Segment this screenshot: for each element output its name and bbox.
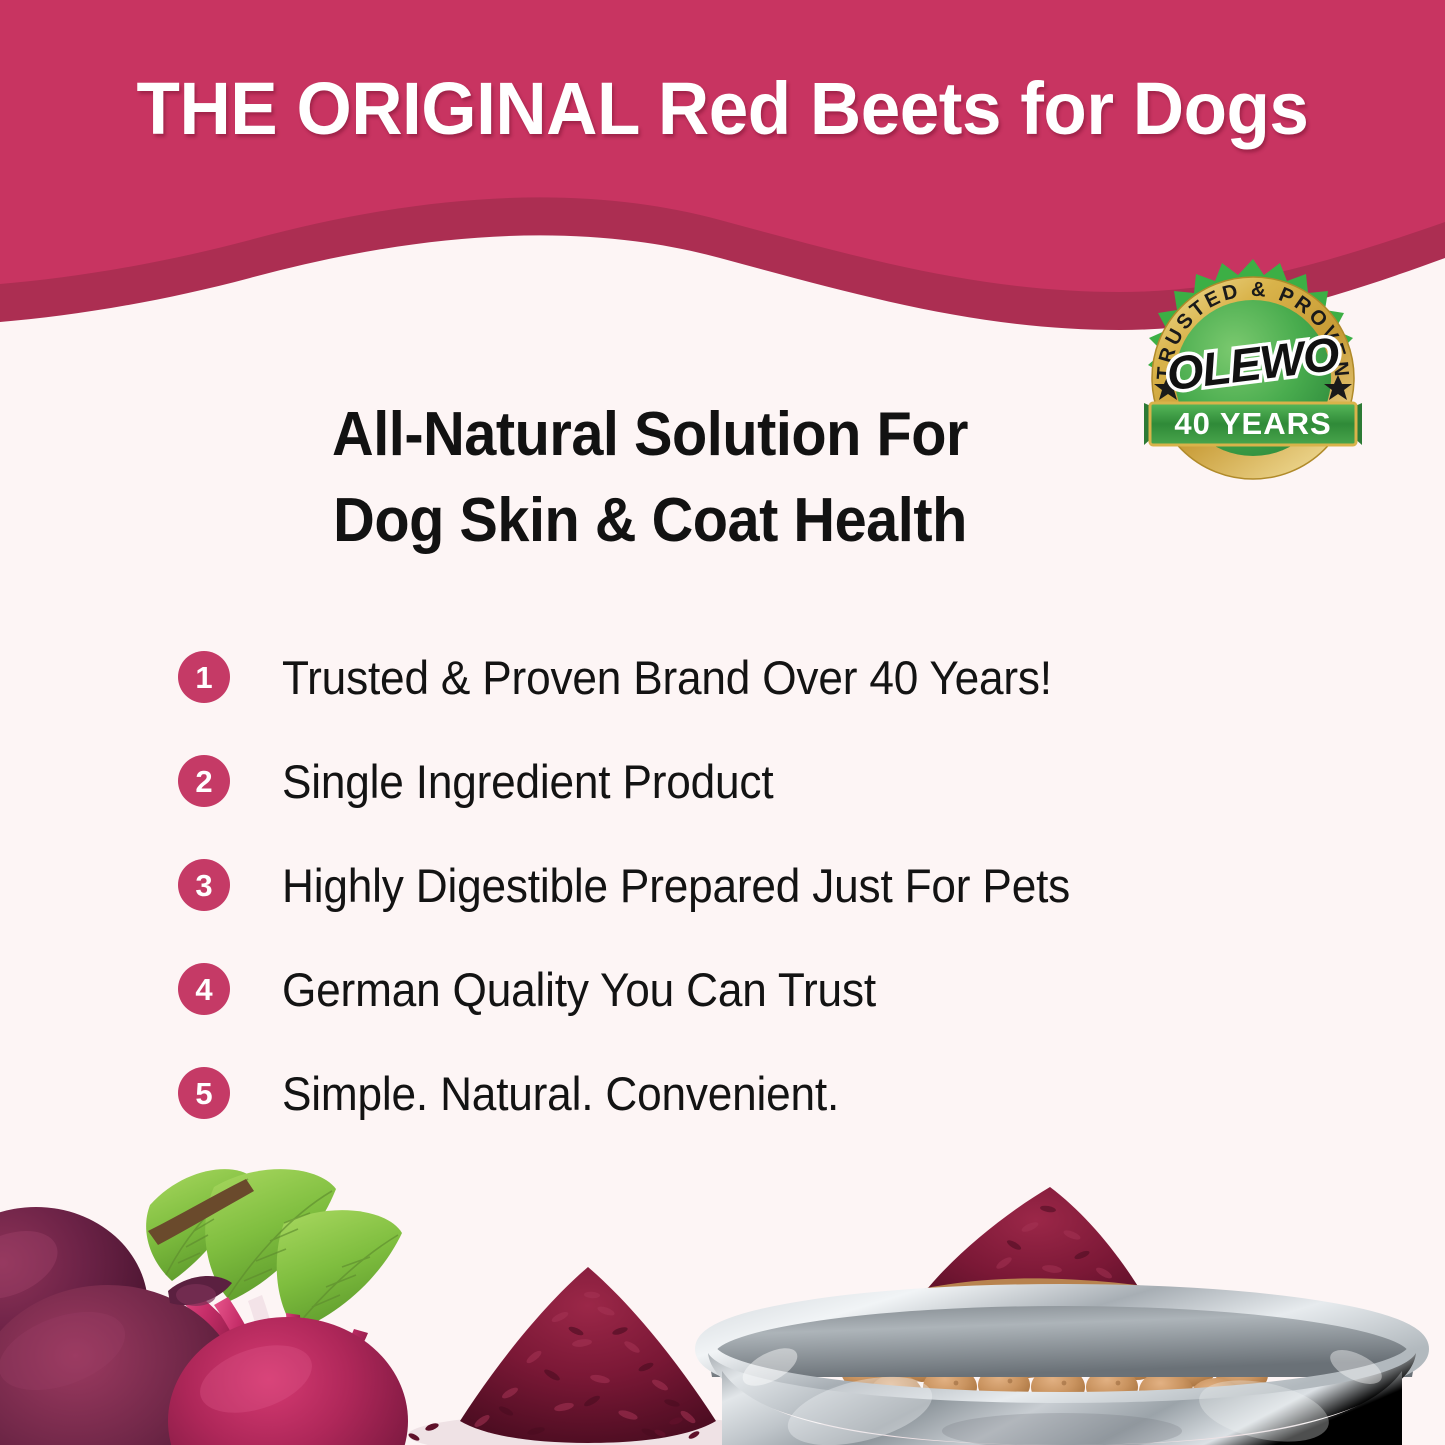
benefit-text: Single Ingredient Product bbox=[282, 754, 773, 809]
list-item: 3 Highly Digestible Prepared Just For Pe… bbox=[178, 833, 1358, 937]
benefit-number-badge: 3 bbox=[178, 859, 230, 911]
subheadline-line-1: All-Natural Solution For bbox=[157, 392, 1143, 478]
benefit-text: Highly Digestible Prepared Just For Pets bbox=[282, 858, 1070, 913]
svg-text:40 YEARS: 40 YEARS bbox=[1174, 406, 1331, 441]
infographic-canvas: THE ORIGINAL Red Beets for Dogs bbox=[0, 0, 1445, 1445]
benefit-number-badge: 5 bbox=[178, 1067, 230, 1119]
list-item: 2 Single Ingredient Product bbox=[178, 729, 1358, 833]
page-title: THE ORIGINAL Red Beets for Dogs bbox=[29, 66, 1416, 151]
benefit-number-badge: 1 bbox=[178, 651, 230, 703]
benefit-text: Trusted & Proven Brand Over 40 Years! bbox=[282, 650, 1052, 705]
list-item: 4 German Quality You Can Trust bbox=[178, 937, 1358, 1041]
subheadline-line-2: Dog Skin & Coat Health bbox=[157, 478, 1143, 564]
benefit-text: German Quality You Can Trust bbox=[282, 962, 876, 1017]
beets-photo bbox=[0, 1169, 408, 1445]
olewo-trust-badge: TRUSTED & PROVEN OLEWO 40 YEARS bbox=[1128, 253, 1378, 503]
benefit-text: Simple. Natural. Convenient. bbox=[282, 1066, 839, 1121]
badge-ribbon: 40 YEARS bbox=[1144, 403, 1362, 445]
benefits-list: 1 Trusted & Proven Brand Over 40 Years! … bbox=[178, 625, 1358, 1145]
product-photo-strip bbox=[0, 1135, 1445, 1445]
list-item: 5 Simple. Natural. Convenient. bbox=[178, 1041, 1358, 1145]
subheadline: All-Natural Solution For Dog Skin & Coat… bbox=[157, 392, 1143, 563]
dog-bowl-photo bbox=[653, 1187, 1418, 1445]
benefit-number-badge: 2 bbox=[178, 755, 230, 807]
benefit-number-badge: 4 bbox=[178, 963, 230, 1015]
list-item: 1 Trusted & Proven Brand Over 40 Years! bbox=[178, 625, 1358, 729]
